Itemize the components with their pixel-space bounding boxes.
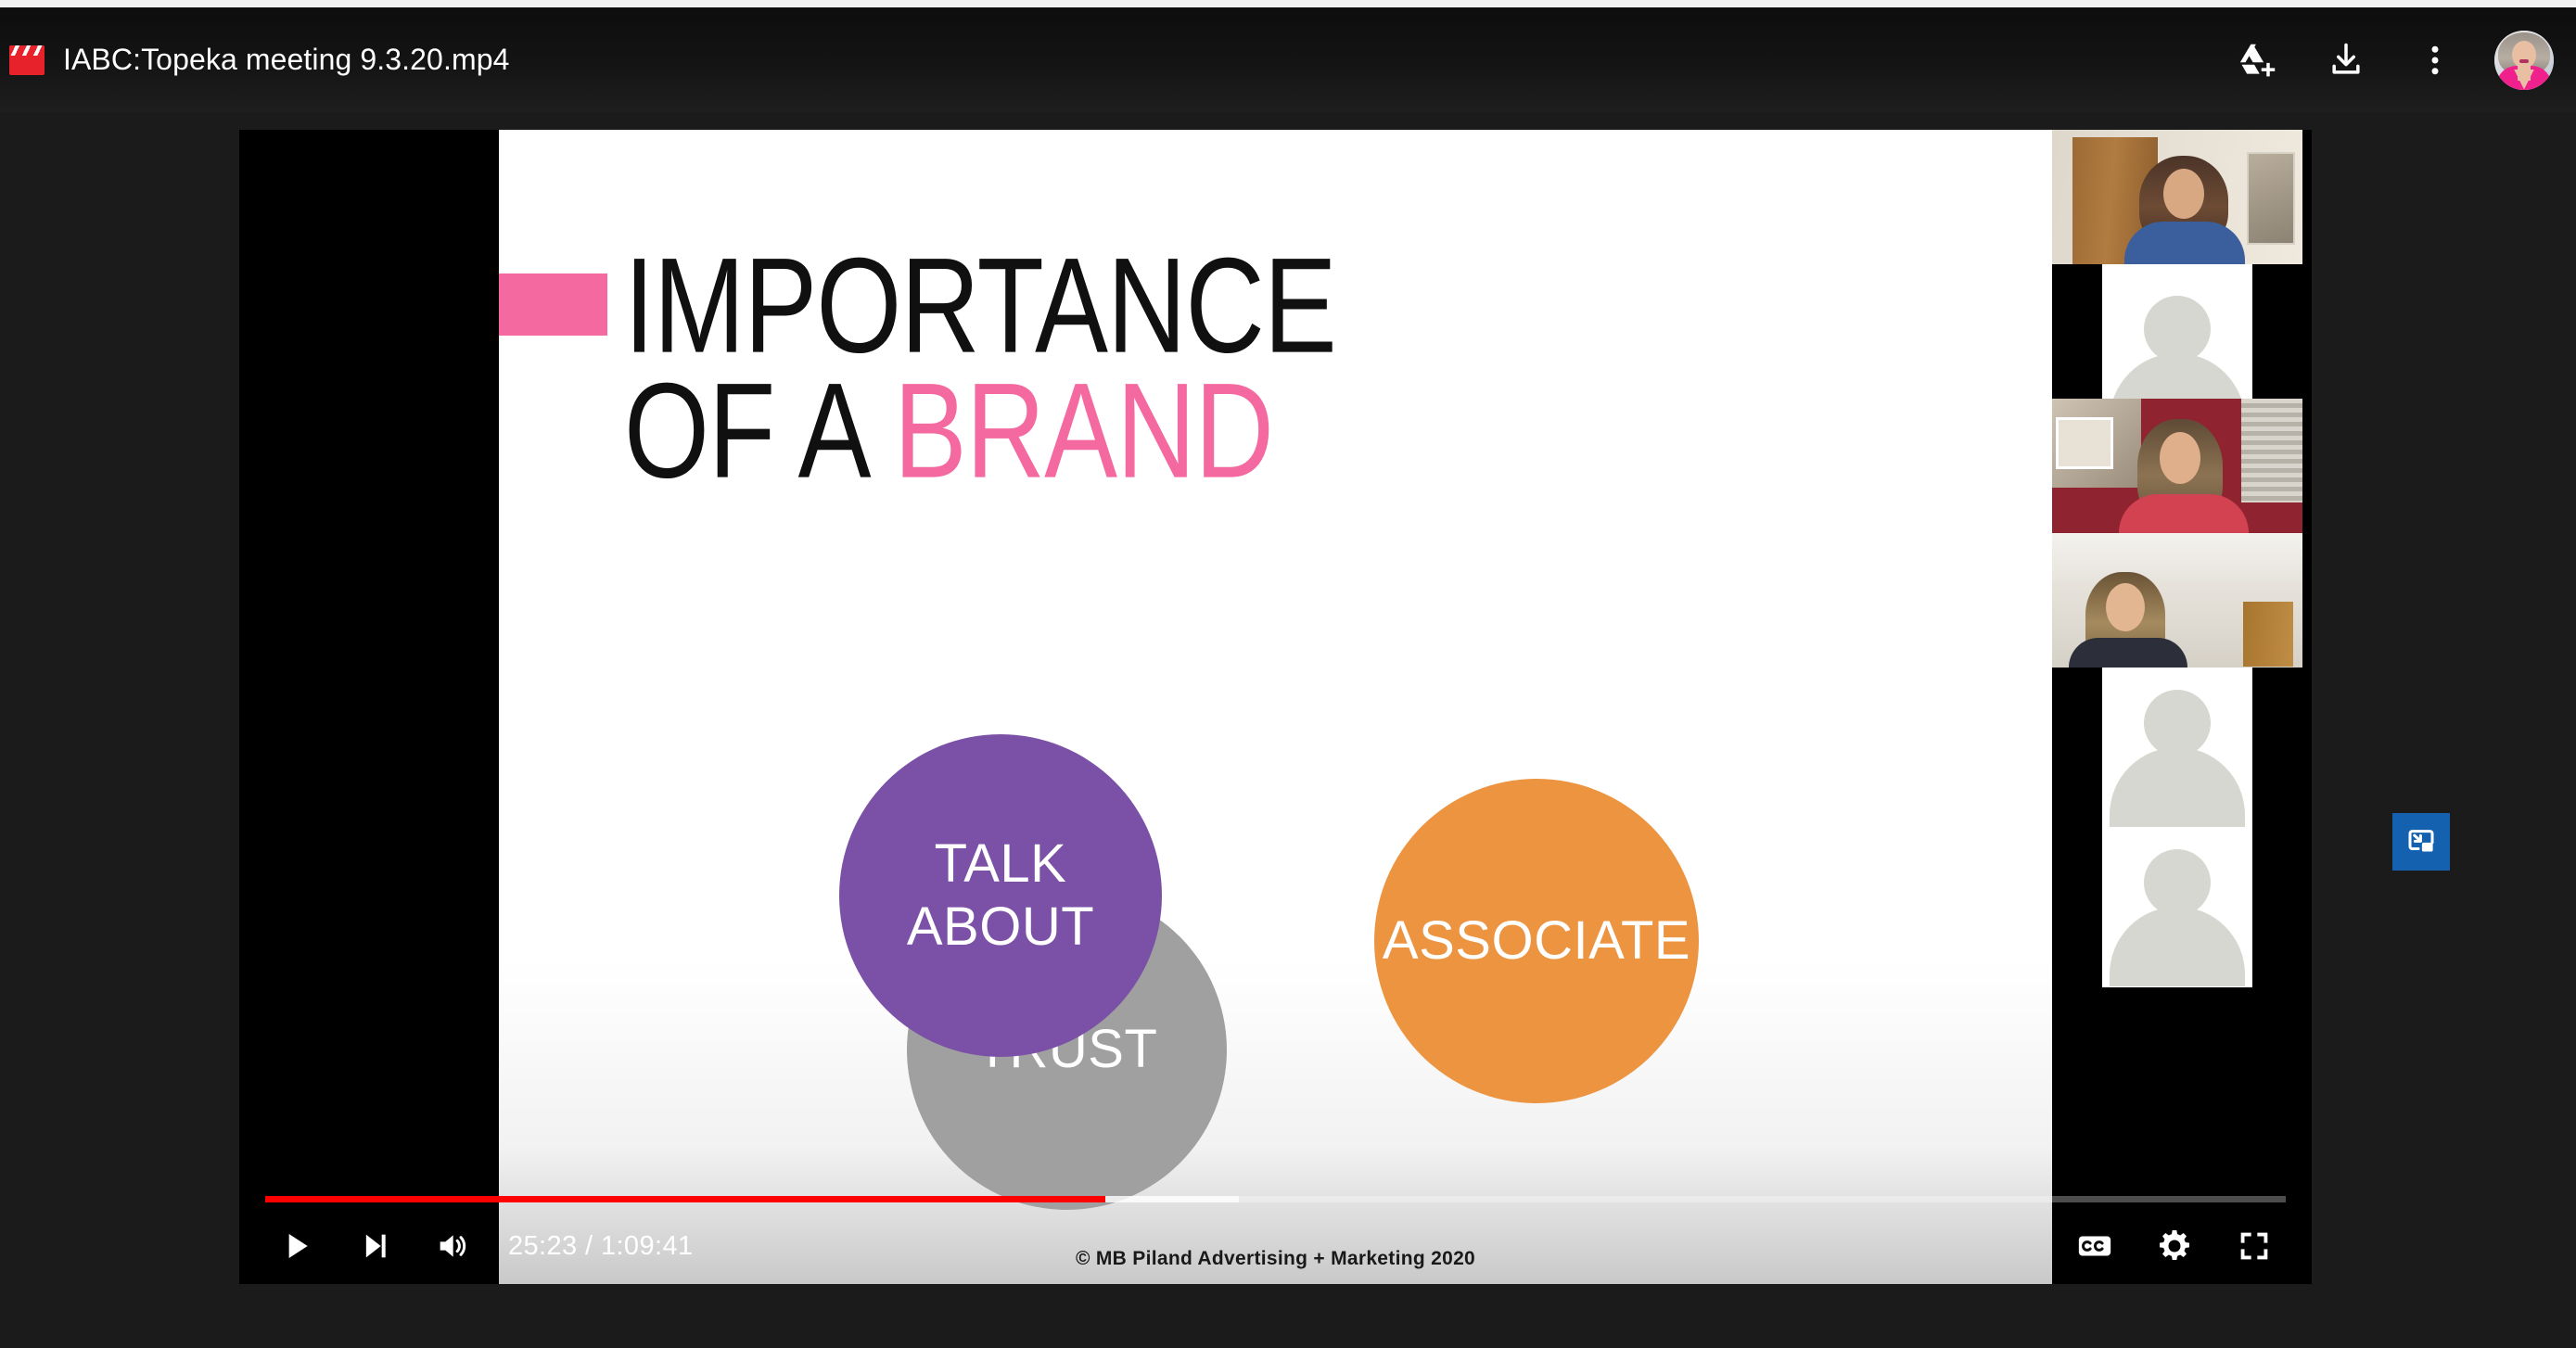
slide-title-line-1: IMPORTANCE <box>624 250 1664 362</box>
fullscreen-icon[interactable] <box>2219 1211 2289 1281</box>
participant-tile-5 <box>2052 668 2302 827</box>
participant-tile-1 <box>2052 130 2302 264</box>
volume-button[interactable] <box>417 1211 488 1281</box>
avatar[interactable] <box>2494 31 2554 90</box>
presentation-slide: IMPORTANCE OF A BRAND TRUST TALK ABOUT A… <box>499 130 2052 1284</box>
header-left: IABC:Topeka meeting 9.3.20.mp4 <box>0 43 2213 77</box>
circle-talk-about: TALK ABOUT <box>839 734 1162 1057</box>
play-button[interactable] <box>261 1211 332 1281</box>
participant-tile-2 <box>2052 264 2302 399</box>
progress-bar[interactable] <box>239 1193 2312 1202</box>
player-controls: 25:23 / 1:09:41 <box>239 1208 2312 1284</box>
closed-captions-icon[interactable] <box>2060 1211 2130 1281</box>
slide-title: IMPORTANCE OF A BRAND <box>624 250 1644 464</box>
window-top-edge <box>0 0 2576 7</box>
participant-tile-6 <box>2052 827 2302 987</box>
slide-title-line-2-black: OF A <box>624 354 894 506</box>
picture-in-picture-icon[interactable] <box>2392 813 2450 871</box>
header-actions <box>2213 16 2576 105</box>
participant-tile-3 <box>2052 399 2302 533</box>
next-button[interactable] <box>339 1211 410 1281</box>
settings-gear-icon[interactable] <box>2139 1211 2210 1281</box>
video-player[interactable]: IMPORTANCE OF A BRAND TRUST TALK ABOUT A… <box>239 130 2312 1284</box>
pink-accent-block <box>499 273 607 336</box>
progress-played <box>265 1196 1105 1202</box>
participant-tile-4 <box>2052 533 2302 668</box>
add-to-drive-icon[interactable] <box>2213 16 2302 105</box>
circle-talk-about-label-l2: ABOUT <box>907 897 1094 957</box>
app-header: IABC:Topeka meeting 9.3.20.mp4 <box>0 7 2576 112</box>
circle-associate: ASSOCIATE <box>1374 779 1699 1103</box>
circle-associate-label: ASSOCIATE <box>1383 909 1690 973</box>
participant-filmstrip <box>2052 130 2302 987</box>
download-icon[interactable] <box>2302 16 2391 105</box>
slide-title-line-2-pink: BRAND <box>894 354 1273 506</box>
slide-title-line-2: OF A BRAND <box>624 375 1664 487</box>
circle-talk-about-label-l1: TALK <box>935 833 1067 894</box>
player-controls-left: 25:23 / 1:09:41 <box>239 1211 710 1281</box>
time-display: 25:23 / 1:09:41 <box>495 1231 710 1262</box>
progress-track[interactable] <box>265 1196 2286 1202</box>
player-controls-right <box>2060 1211 2312 1281</box>
circle-talk-about-label: TALK ABOUT <box>907 833 1094 960</box>
file-title: IABC:Topeka meeting 9.3.20.mp4 <box>63 43 510 77</box>
more-options-icon[interactable] <box>2391 16 2480 105</box>
player-control-bar: 25:23 / 1:09:41 <box>239 1182 2312 1284</box>
video-file-icon <box>9 45 45 75</box>
